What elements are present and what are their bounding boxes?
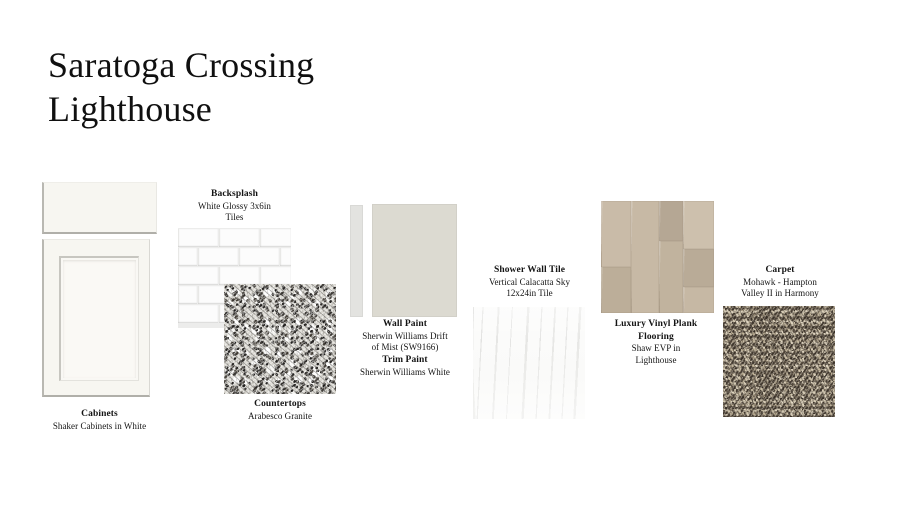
caption-title-cabinets: Cabinets [28,408,171,421]
swatch-cabinets [42,182,157,397]
carpet-fiber-overlay [723,306,835,417]
swatch-lvp-flooring [601,201,714,313]
wood-plank [683,201,714,249]
caption-title-wall-paint: Wall Paint [340,318,470,331]
subway-tile [219,229,259,247]
swatch-trim-paint [350,205,363,317]
granite-speckle-overlay [224,284,336,394]
caption-title-trim-paint: Trim Paint [340,354,470,367]
wood-plank [601,201,631,267]
wood-grain [659,201,683,241]
subway-tile [280,248,291,266]
subway-tile [219,267,259,285]
subway-tile [239,248,279,266]
caption-spec-cabinets: Shaker Cabinets in White [28,421,171,433]
caption-spec-countertops: Arabesco Granite [210,411,350,423]
caption-backsplash: Backsplash White Glossy 3x6in Tiles [166,188,303,224]
caption-title-carpet: Carpet [716,264,844,277]
caption-shower-wall-tile: Shower Wall Tile Vertical Calacatta Sky … [472,264,587,300]
subway-tile [178,305,218,323]
cabinet-panel-inner [63,260,136,378]
swatch-countertops [224,284,336,394]
cabinet-door-front [42,239,150,397]
materials-selection-board: Saratoga Crossing Lighthouse Cabinets Sh… [0,0,900,506]
wood-grain [683,201,714,249]
caption-countertops: Countertops Arabesco Granite [210,398,350,422]
caption-paint: Wall Paint Sherwin Williams Drift of Mis… [340,318,470,379]
wood-plank [683,249,714,287]
wood-grain [631,201,659,313]
caption-lvp-flooring: Luxury Vinyl Plank Flooring Shaw EVP in … [592,318,720,367]
subway-tile [198,248,238,266]
caption-carpet: Carpet Mohawk - Hampton Valley II in Har… [716,264,844,300]
wood-grain [683,249,714,287]
caption-title-backsplash: Backsplash [166,188,303,201]
swatch-wall-paint [372,204,457,317]
subway-tile [260,267,291,285]
caption-spec-lvp-flooring: Shaw EVP in Lighthouse [592,343,720,367]
subway-tile [178,229,218,247]
wood-grain [659,241,683,313]
caption-title-shower-wall-tile: Shower Wall Tile [472,264,587,277]
swatch-carpet [723,306,835,417]
cabinet-recessed-panel [59,256,139,381]
trim-paint-chip [350,205,363,317]
wood-plank [601,267,631,313]
caption-spec-shower-wall-tile: Vertical Calacatta Sky 12x24in Tile [472,277,587,301]
swatch-shower-wall-tile [473,307,585,419]
subway-tile [260,229,291,247]
wood-plank [631,201,659,313]
page-title: Saratoga Crossing Lighthouse [48,44,468,132]
wood-plank [683,287,714,313]
wood-grain [601,201,631,267]
marble-sheen-overlay [473,307,585,419]
wall-paint-chip [372,204,457,317]
caption-spec-carpet: Mohawk - Hampton Valley II in Harmony [716,277,844,301]
caption-title-countertops: Countertops [210,398,350,411]
caption-spec-trim-paint: Sherwin Williams White [340,367,470,379]
wood-grain [683,287,714,313]
wood-plank [659,201,683,241]
subway-tile [178,248,197,266]
caption-spec-backsplash: White Glossy 3x6in Tiles [166,201,303,225]
caption-cabinets: Cabinets Shaker Cabinets in White [28,408,171,432]
caption-title-lvp-flooring: Luxury Vinyl Plank Flooring [592,318,720,343]
caption-spec-wall-paint: Sherwin Williams Drift of Mist (SW9166) [340,331,470,355]
cabinet-drawer-front [42,182,157,234]
wood-grain [601,267,631,313]
subway-tile [178,286,197,304]
wood-plank [659,241,683,313]
subway-tile [178,267,218,285]
